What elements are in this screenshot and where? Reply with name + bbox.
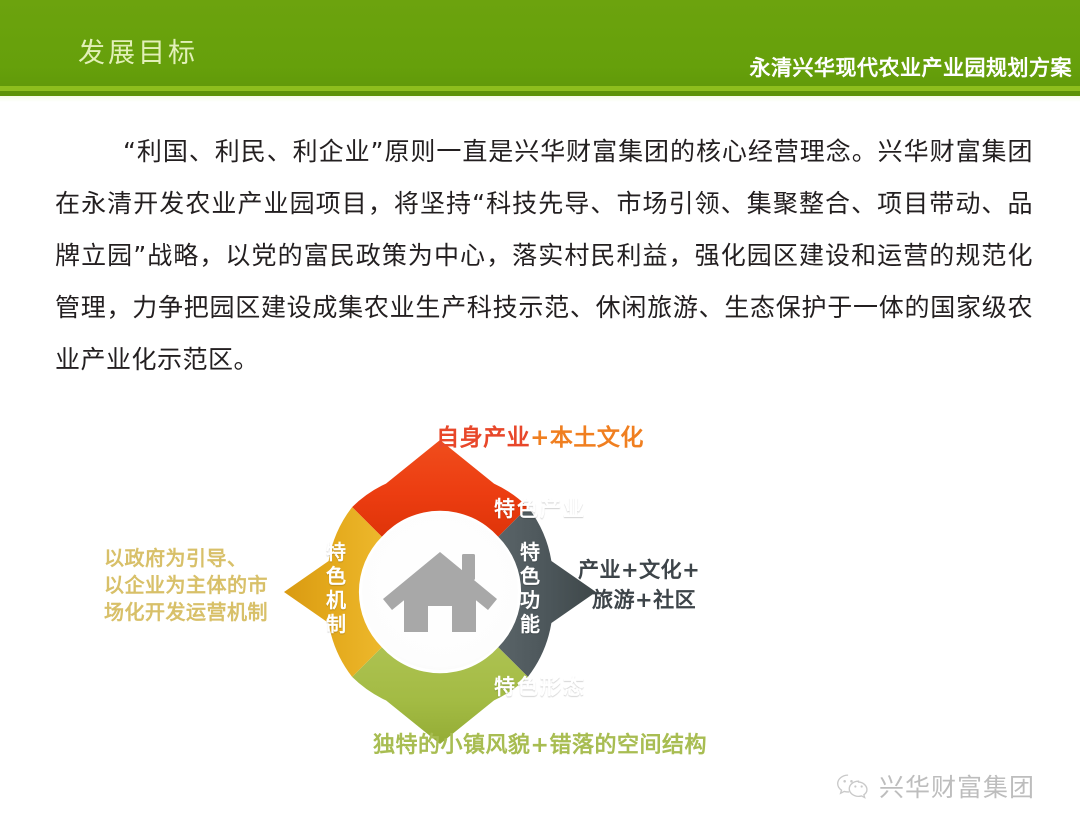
concept-diagram: 特色产业 特色功能 特色形态 特色机制 自身产业+本土文化 独特的小镇风貌+错落… [0,400,1080,790]
callout-top: 自身产业+本土文化 [0,418,1080,452]
header-underglow [0,96,1080,102]
segment-label-bottom: 特色形态 [0,671,1080,701]
wechat-icon [836,772,870,800]
footer-brand-text: 兴华财富集团 [879,768,1035,804]
callout-top-part-a: 自身产业 [436,425,530,451]
callout-left-line3: 场化开发运营机制 [104,599,304,626]
page-header: 发展目标 永清兴华现代农业产业园规划方案 [0,0,1080,95]
page-title: 发展目标 [78,38,198,70]
segment-label-right: 特色功能 [517,540,543,636]
callout-top-part-b: 本土文化 [550,425,644,451]
header-subtitle: 永清兴华现代农业产业园规划方案 [750,55,1073,81]
callout-left: 以政府为引导、 以企业为主体的市 场化开发运营机制 [104,545,304,626]
footer-watermark: 兴华财富集团 [836,768,1035,804]
callout-right-line2: 旅游+社区 [578,585,808,615]
segment-label-left: 特色机制 [323,540,349,636]
segment-label-top: 特色产业 [0,493,1080,523]
callout-left-line2: 以企业为主体的市 [104,572,304,599]
callout-right-line1: 产业+文化+ [578,555,808,585]
callout-right: 产业+文化+ 旅游+社区 [578,555,808,615]
callout-left-line1: 以政府为引导、 [104,545,304,572]
callout-top-plus: + [530,425,550,451]
body-paragraph: “利国、利民、利企业”原则一直是兴华财富集团的核心经营理念。兴华财富集团在永清开… [55,126,1033,386]
callout-bottom: 独特的小镇风貌+错落的空间结构 [0,727,1080,759]
